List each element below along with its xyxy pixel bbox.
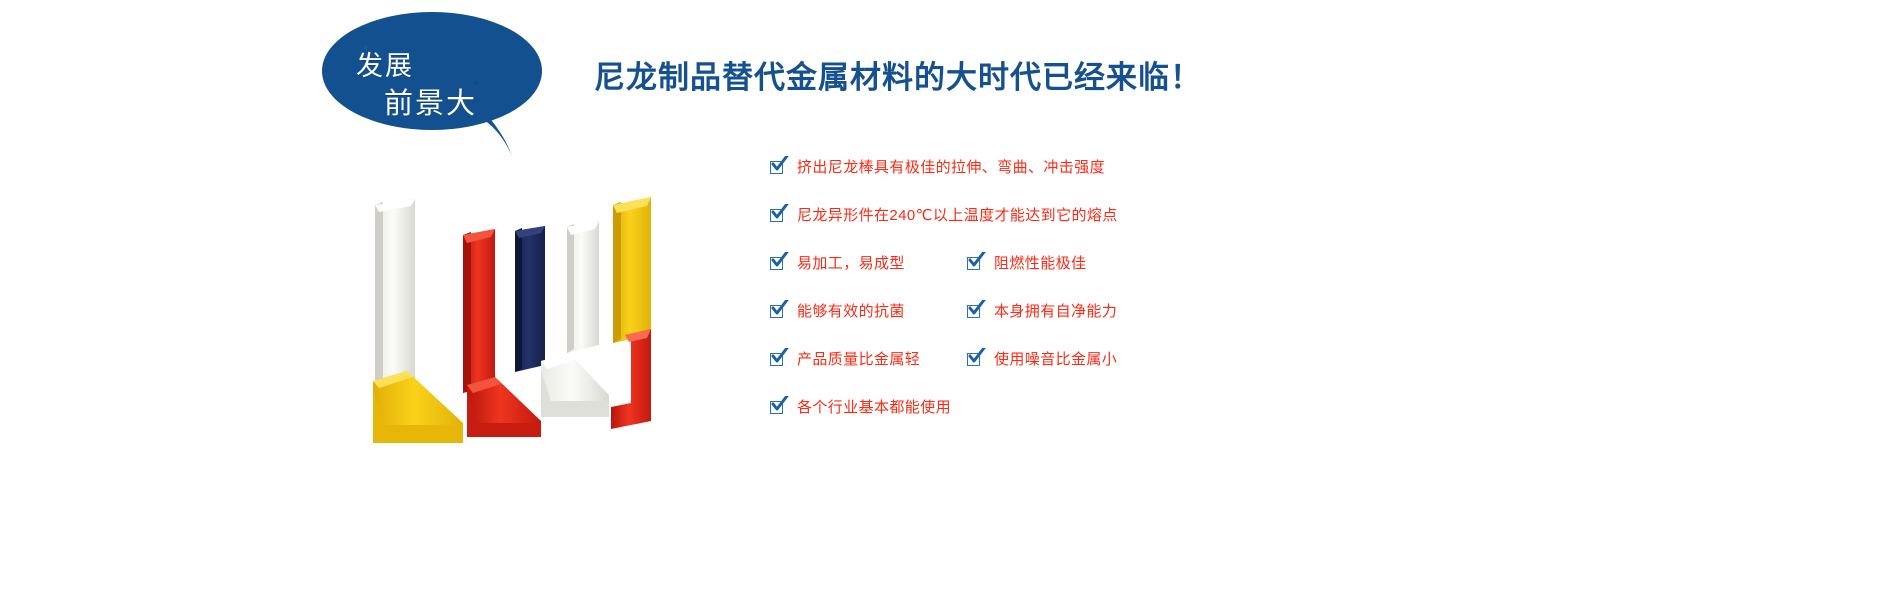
feature-item: 尼龙异形件在240℃以上温度才能达到它的熔点 <box>770 204 1118 225</box>
feature-label: 各个行业基本都能使用 <box>797 396 951 417</box>
checkbox-checked-icon <box>770 399 785 414</box>
piece-white-u-profile-tall <box>375 199 415 398</box>
checkbox-checked-icon <box>770 255 785 270</box>
feature-label: 阻燃性能极佳 <box>994 252 1086 273</box>
checkbox-checked-icon <box>967 351 982 366</box>
piece-navy-flat-bar <box>515 226 545 372</box>
feature-label: 易加工，易成型 <box>797 252 905 273</box>
product-photo <box>355 185 700 460</box>
piece-red-u-profile <box>463 229 495 393</box>
feature-row: 易加工，易成型 阻燃性能极佳 <box>770 252 1470 300</box>
checkbox-checked-icon <box>967 303 982 318</box>
feature-item: 产品质量比金属轻 <box>770 348 920 369</box>
feature-label: 尼龙异形件在240℃以上温度才能达到它的熔点 <box>797 204 1118 225</box>
feature-item: 易加工，易成型 <box>770 252 905 273</box>
piece-red-l-profile-base <box>467 377 541 437</box>
feature-item: 本身拥有自净能力 <box>967 300 1117 321</box>
piece-white-l-profile <box>567 221 599 353</box>
checkbox-checked-icon <box>770 303 785 318</box>
feature-label: 挤出尼龙棒具有极佳的拉伸、弯曲、冲击强度 <box>797 156 1105 177</box>
feature-item: 使用噪音比金属小 <box>967 348 1117 369</box>
piece-white-u-profile-base <box>541 353 609 417</box>
feature-row: 尼龙异形件在240℃以上温度才能达到它的熔点 <box>770 204 1470 252</box>
feature-row: 各个行业基本都能使用 <box>770 396 1470 444</box>
feature-row: 能够有效的抗菌 本身拥有自净能力 <box>770 300 1470 348</box>
speech-bubble: 发展 前景大 <box>322 12 552 162</box>
product-photo-svg <box>355 185 700 460</box>
promo-banner: 发展 前景大 尼龙制品替代金属材料的大时代已经来临！ <box>0 0 1902 592</box>
piece-red-l-profile-right <box>611 329 651 429</box>
feature-list: 挤出尼龙棒具有极佳的拉伸、弯曲、冲击强度 尼龙异形件在240℃以上温度才能达到它… <box>770 156 1470 444</box>
checkbox-checked-icon <box>770 351 785 366</box>
feature-label: 本身拥有自净能力 <box>994 300 1117 321</box>
feature-item: 挤出尼龙棒具有极佳的拉伸、弯曲、冲击强度 <box>770 156 1105 177</box>
page-title: 尼龙制品替代金属材料的大时代已经来临！ <box>594 52 1202 97</box>
feature-label: 使用噪音比金属小 <box>994 348 1117 369</box>
piece-yellow-l-profile-base <box>373 371 463 443</box>
feature-label: 能够有效的抗菌 <box>797 300 905 321</box>
checkbox-checked-icon <box>967 255 982 270</box>
feature-item: 各个行业基本都能使用 <box>770 396 951 417</box>
checkbox-checked-icon <box>770 207 785 222</box>
piece-yellow-flat-bar <box>613 197 651 343</box>
speech-bubble-tail-icon <box>482 108 512 156</box>
checkbox-checked-icon <box>770 159 785 174</box>
feature-row: 挤出尼龙棒具有极佳的拉伸、弯曲、冲击强度 <box>770 156 1470 204</box>
feature-item: 能够有效的抗菌 <box>770 300 905 321</box>
feature-row: 产品质量比金属轻 使用噪音比金属小 <box>770 348 1470 396</box>
bubble-line-2: 前景大 <box>384 80 477 122</box>
bubble-line-1: 发展 <box>356 44 414 83</box>
feature-item: 阻燃性能极佳 <box>967 252 1086 273</box>
feature-label: 产品质量比金属轻 <box>797 348 920 369</box>
